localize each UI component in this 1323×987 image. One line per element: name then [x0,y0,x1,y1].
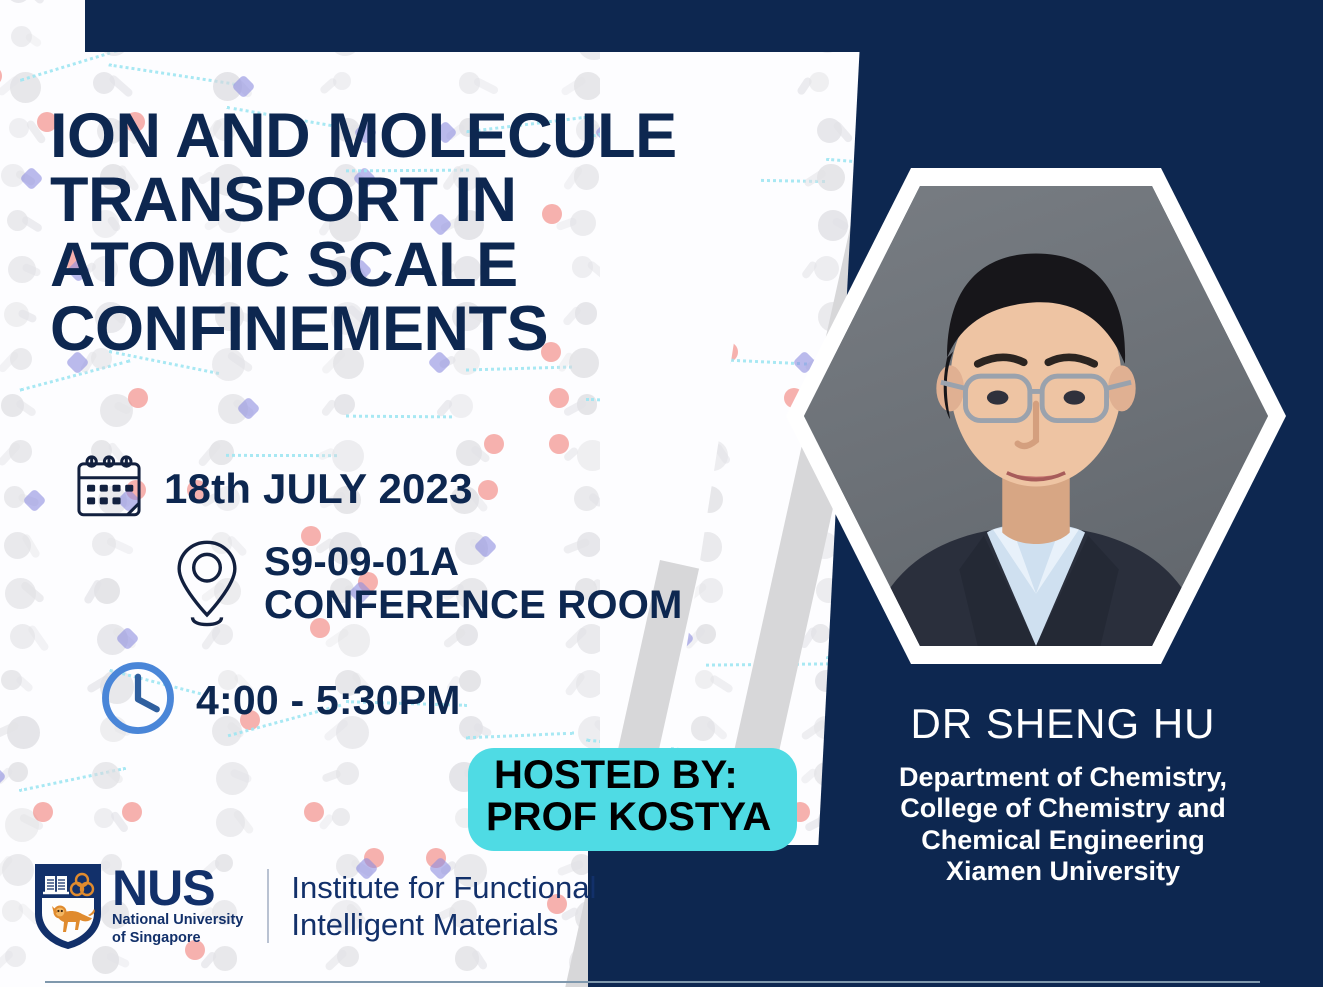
speaker-affiliation: Department of Chemistry, College of Chem… [838,762,1288,887]
speaker-photo-hexagon [786,168,1286,664]
institute-line-2: Intelligent Materials [291,906,596,943]
affiliation-line-2: College of Chemistry and [838,793,1288,824]
map-pin-icon [168,535,246,632]
nus-sub-line-1: National University [112,912,243,929]
nus-sub-line-2: of Singapore [112,930,243,947]
logo-divider [267,869,269,943]
calendar-icon [72,450,146,529]
title-line-1: ION AND MOLECULE [50,104,850,168]
page-title: ION AND MOLECULE TRANSPORT IN ATOMIC SCA… [50,104,850,361]
event-poster: ION AND MOLECULE TRANSPORT IN ATOMIC SCA… [0,0,1323,987]
title-line-4: CONFINEMENTS [50,297,850,361]
top-navy-bar [85,0,1323,52]
event-location: S9-09-01A CONFERENCE ROOM [264,541,683,626]
event-date: 18th JULY 2023 [164,467,473,512]
host-name: PROF KOSTYA [486,796,771,838]
affiliation-line-4: Xiamen University [838,856,1288,887]
speaker-info: DR SHENG HU Department of Chemistry, Col… [838,700,1288,887]
institute-name: Institute for Functional Intelligent Mat… [291,869,596,943]
footer-rule [45,981,1260,983]
title-line-2: TRANSPORT IN [50,168,850,232]
institute-line-1: Institute for Functional [291,869,596,906]
event-time-row: 4:00 - 5:30PM [98,658,461,743]
location-line-1: S9-09-01A [264,540,459,584]
nus-crest-icon [32,862,104,950]
nus-wordmark: NUS National University of Singapore [112,865,243,947]
speaker-name: DR SHENG HU [838,700,1288,748]
hosted-by-badge: HOSTED BY: PROF KOSTYA [468,748,797,851]
affiliation-line-3: Chemical Engineering [838,825,1288,856]
affiliation-line-1: Department of Chemistry, [838,762,1288,793]
event-location-row: S9-09-01A CONFERENCE ROOM [168,535,683,632]
clock-icon [98,658,178,743]
event-time: 4:00 - 5:30PM [196,679,461,722]
nus-acronym: NUS [112,865,243,911]
hosted-by-label: HOSTED BY: [494,754,771,796]
event-date-row: 18th JULY 2023 [72,450,473,529]
nus-logo: NUS National University of Singapore Ins… [32,862,596,950]
location-line-2: CONFERENCE ROOM [264,583,683,627]
title-line-3: ATOMIC SCALE [50,233,850,297]
